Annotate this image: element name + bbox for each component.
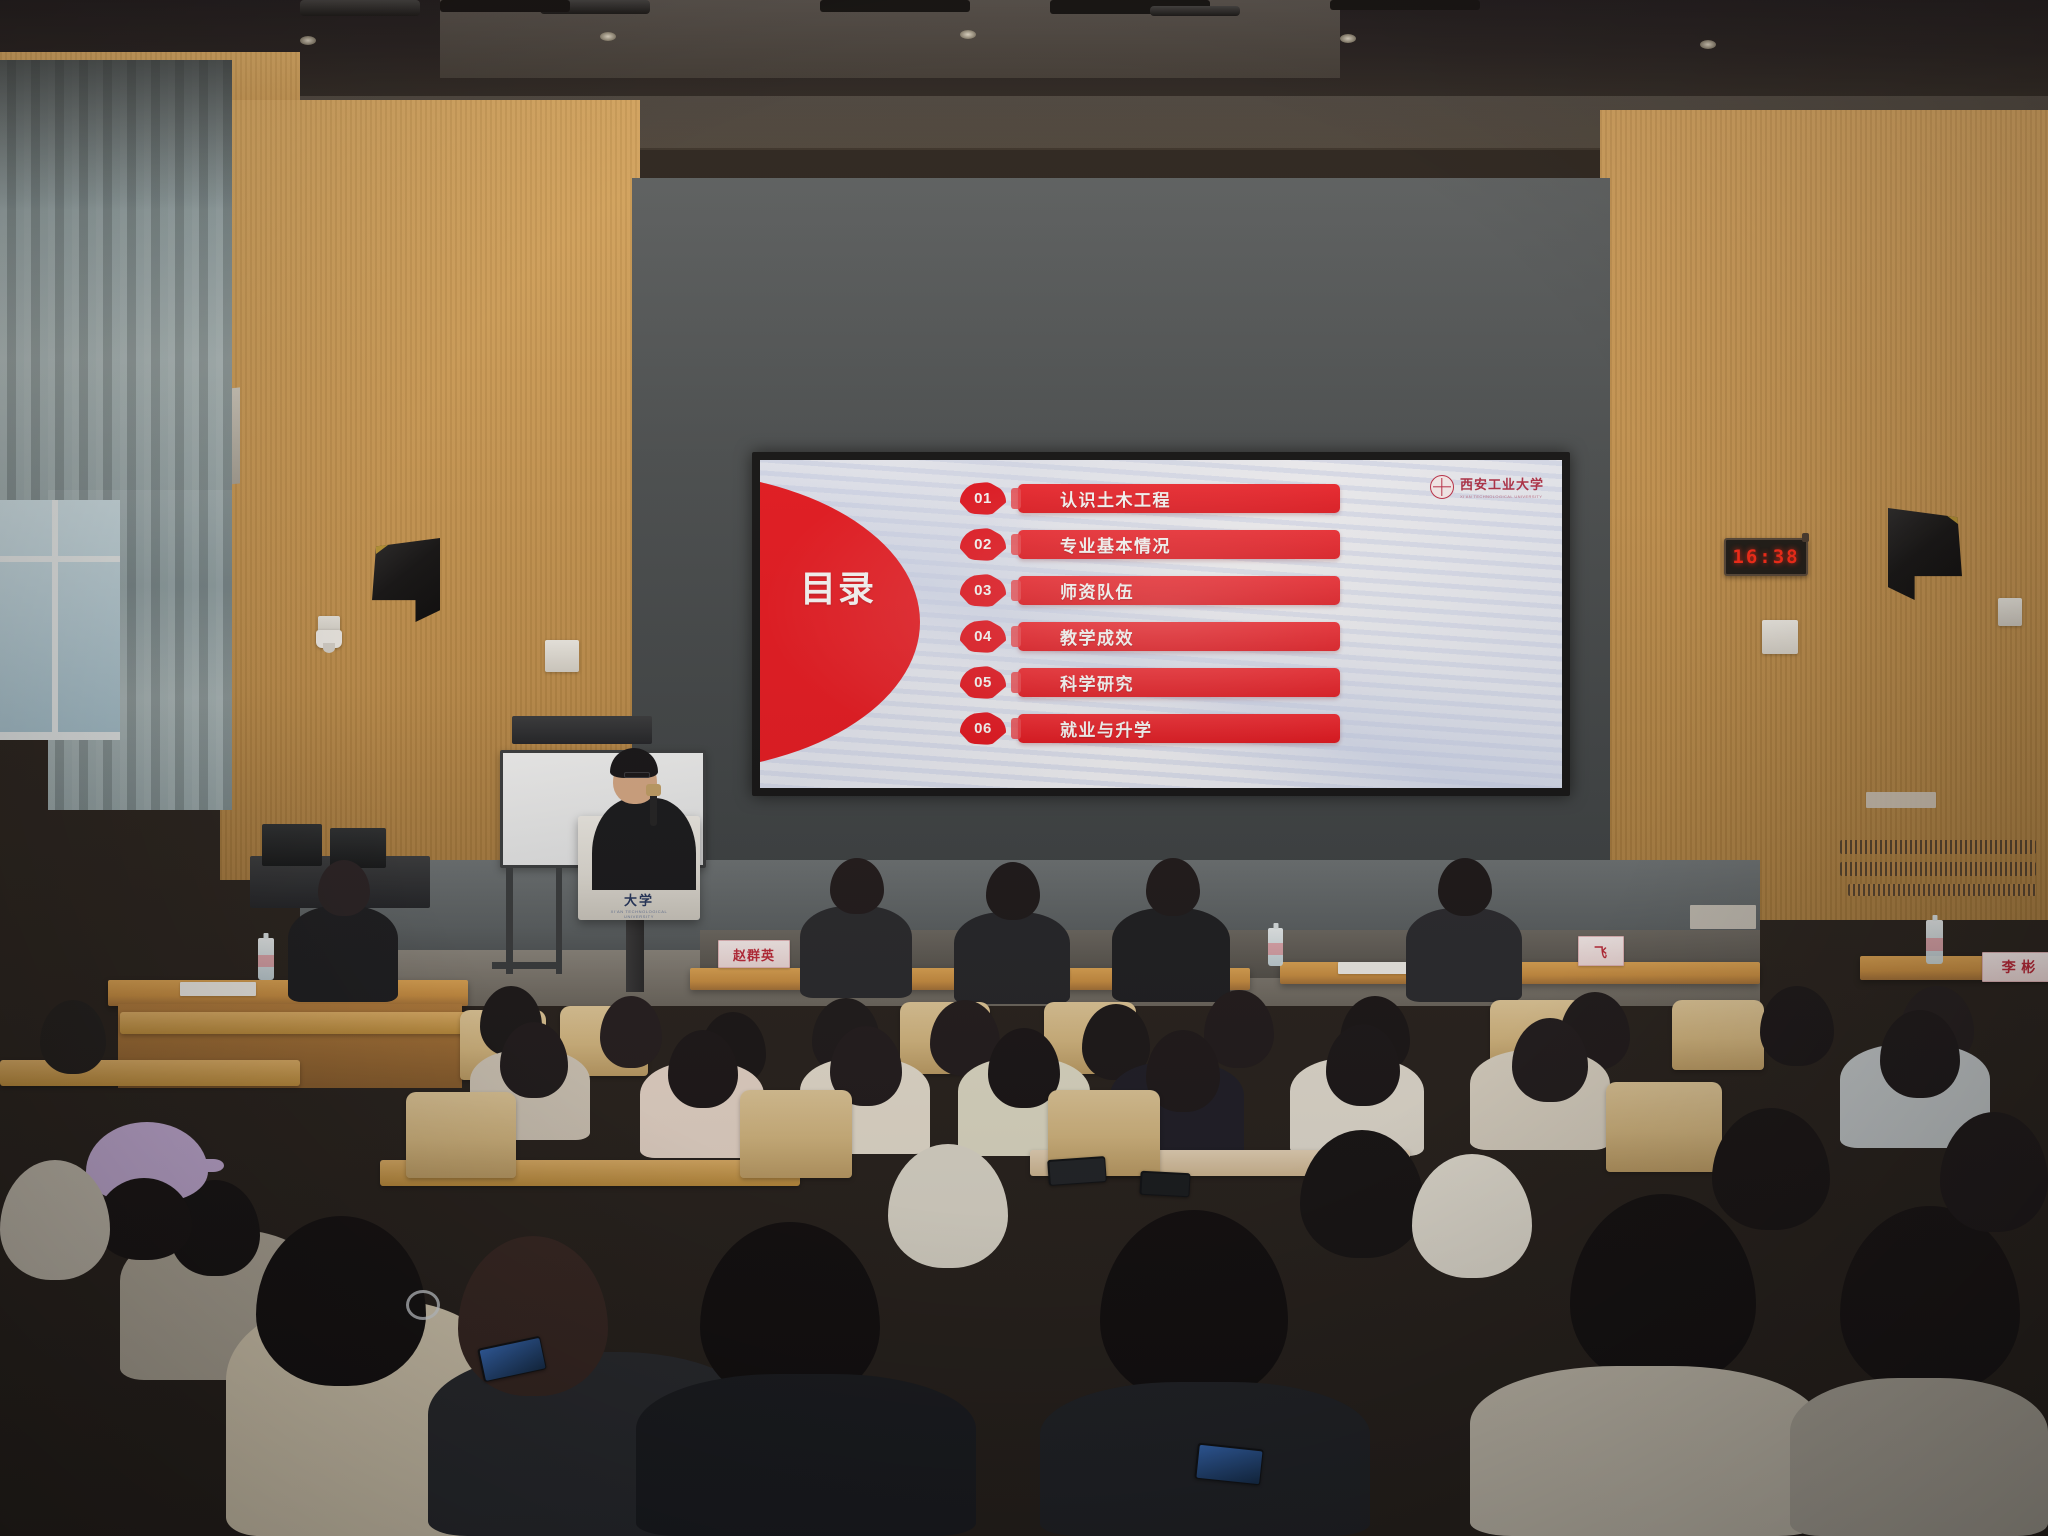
wall-plate — [1866, 792, 1936, 808]
wall-plate — [1690, 905, 1756, 929]
panelist-head — [986, 862, 1040, 920]
phone-display — [1196, 1444, 1262, 1483]
panelist-body — [800, 906, 912, 998]
toc-item-bar: 就业与升学 — [1018, 714, 1340, 743]
toc-item-label: 师资队伍 — [1060, 578, 1134, 603]
auditorium-seat — [406, 1092, 516, 1178]
av-desk-panel — [512, 716, 652, 744]
placard-name-text: 李 彬 — [2002, 957, 2037, 977]
ceiling-downlight — [300, 36, 316, 45]
podium-stem — [626, 918, 644, 992]
document-paper — [180, 982, 256, 996]
toc-item: 03师资队伍 — [960, 574, 1340, 607]
ceiling-downlight — [960, 30, 976, 39]
toc-item-bar: 专业基本情况 — [1018, 530, 1340, 559]
security-camera — [316, 630, 342, 648]
auditorium-seat — [1672, 1000, 1764, 1070]
phone-display — [1141, 1172, 1189, 1195]
clock-knob-icon — [1802, 533, 1809, 542]
audience-desk-row — [0, 1060, 300, 1086]
av-monitor — [262, 824, 322, 866]
audience-body — [636, 1374, 976, 1536]
presenter-torso — [592, 798, 696, 890]
toc-item-label: 科学研究 — [1060, 670, 1134, 695]
audience-head — [1760, 986, 1834, 1066]
water-bottle — [1926, 920, 1943, 964]
ceiling-downlight — [600, 32, 616, 41]
lecture-hall-photo: 目录 01认识土木工程02专业基本情况03师资队伍04教学成效05科学研究06就… — [0, 0, 2048, 1536]
audience-head — [458, 1236, 608, 1396]
smartphone-on-desk[interactable] — [1139, 1171, 1190, 1198]
wall-speaker-box-right — [1762, 620, 1798, 654]
window-mullion — [52, 500, 58, 740]
name-placard-li: 李 彬 — [1982, 952, 2048, 982]
curtain-shadow — [0, 60, 232, 210]
panelist-head — [1438, 858, 1492, 916]
university-emblem-icon — [1430, 475, 1454, 499]
toc-item-number: 02 — [960, 528, 1006, 561]
water-bottle — [258, 938, 274, 980]
audience-body — [1470, 1366, 1820, 1536]
audience-head — [1570, 1194, 1756, 1386]
whiteboard-leg — [556, 868, 562, 974]
toc-item: 04教学成效 — [960, 620, 1340, 653]
placard-name-text: 赵群英 — [733, 945, 775, 964]
audience-head — [600, 996, 662, 1068]
water-bottle — [1268, 928, 1283, 966]
ceiling-light-fixture — [300, 0, 420, 16]
toc-item-number: 01 — [960, 482, 1006, 515]
microphone-head-icon — [646, 784, 661, 796]
panelist-head — [318, 860, 370, 916]
university-name-text: 西安工业大学 — [1460, 477, 1544, 492]
toc-item: 02专业基本情况 — [960, 528, 1340, 561]
panelist-body — [954, 912, 1070, 1004]
bottle-label — [258, 955, 274, 968]
audience-body — [1790, 1378, 2048, 1536]
podium-university-latin: XI'AN TECHNOLOGICAL UNIVERSITY — [609, 909, 670, 919]
audience-head — [500, 1022, 568, 1098]
wall-vent — [1848, 884, 2036, 896]
toc-item-label: 教学成效 — [1060, 624, 1134, 649]
smartphone-on-desk[interactable] — [1047, 1156, 1107, 1186]
auditorium-seat — [740, 1090, 852, 1178]
panelist-body — [1112, 908, 1230, 1002]
smartphone-screen[interactable] — [1194, 1443, 1263, 1486]
phone-display — [1049, 1158, 1105, 1185]
presentation-slide: 目录 01认识土木工程02专业基本情况03师资队伍04教学成效05科学研究06就… — [760, 460, 1562, 788]
toc-item-bar: 师资队伍 — [1018, 576, 1340, 605]
toc-title: 目录 — [778, 570, 898, 609]
wall-speaker-box-left — [545, 640, 579, 672]
toc-item-bar: 科学研究 — [1018, 668, 1340, 697]
presenter-microphone — [650, 792, 657, 826]
whiteboard-leg — [492, 962, 558, 969]
audience-head — [888, 1144, 1008, 1268]
wall-sensor-box-right — [1998, 598, 2022, 626]
audience-head — [1412, 1154, 1532, 1278]
whiteboard-leg — [506, 868, 513, 974]
panelist-body — [288, 906, 398, 1002]
digital-wall-clock: 16:38 — [1724, 538, 1808, 576]
toc-item-bar: 教学成效 — [1018, 622, 1340, 651]
placard-name-text: 飞 — [1594, 942, 1608, 961]
window — [0, 500, 120, 740]
toc-item-number: 04 — [960, 620, 1006, 653]
bottle-label — [1926, 938, 1943, 951]
wall-vent — [1840, 862, 2036, 876]
name-placard-fei: 飞 — [1578, 936, 1624, 966]
toc-item: 01认识土木工程 — [960, 482, 1340, 515]
toc-item-number: 06 — [960, 712, 1006, 745]
ceiling-downlight — [1340, 34, 1356, 43]
audience-head — [1940, 1112, 2048, 1232]
toc-item: 05科学研究 — [960, 666, 1340, 699]
panelist-head — [1146, 858, 1200, 916]
name-placard-zhao: 赵群英 — [718, 940, 790, 968]
audience-head — [40, 1000, 106, 1074]
audience-head — [1840, 1206, 2020, 1394]
auditorium-seat — [1606, 1082, 1722, 1172]
toc-item-label: 认识土木工程 — [1060, 486, 1171, 511]
toc-item-bar: 认识土木工程 — [1018, 484, 1340, 513]
audience-head — [1100, 1210, 1288, 1402]
toc-item-label: 就业与升学 — [1060, 716, 1153, 741]
ceiling-downlight — [1700, 40, 1716, 49]
audience-head — [1712, 1108, 1830, 1230]
right-wall-panel — [1600, 110, 2048, 920]
bottle-label — [1268, 943, 1283, 954]
window-sill — [0, 732, 120, 740]
panelist-head — [830, 858, 884, 914]
university-name-latin: XI'AN TECHNOLOGICAL UNIVERSITY — [1460, 494, 1544, 499]
ceiling-panel — [820, 0, 970, 12]
ceiling-panel — [1330, 0, 1480, 10]
wall-vent — [1840, 840, 2036, 854]
toc-item-number: 03 — [960, 574, 1006, 607]
ceiling-light-fixture — [1150, 6, 1240, 16]
window-mullion — [0, 556, 120, 562]
audience-glasses-icon — [406, 1290, 440, 1320]
clock-time: 16:38 — [1732, 546, 1799, 568]
toc-item-label: 专业基本情况 — [1060, 532, 1171, 557]
presenter-glasses-icon — [624, 772, 650, 778]
slide-university-logo: 西安工业大学 XI'AN TECHNOLOGICAL UNIVERSITY — [1430, 474, 1544, 499]
toc-item: 06就业与升学 — [960, 712, 1340, 745]
toc-item-number: 05 — [960, 666, 1006, 699]
panelist-body — [1406, 908, 1522, 1002]
ceiling-panel — [440, 0, 570, 12]
